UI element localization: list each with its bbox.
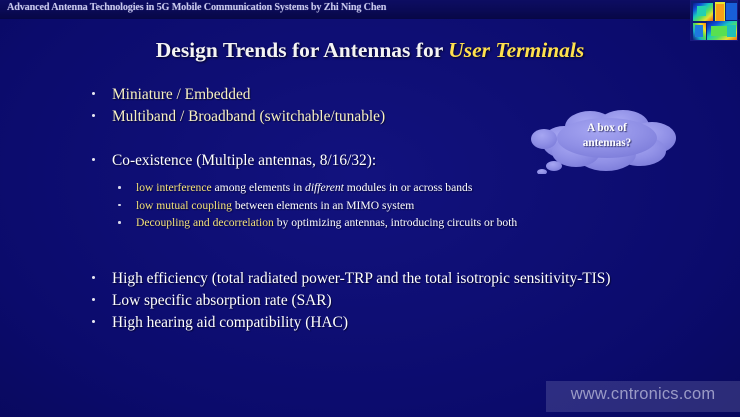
header-title: Advanced Antenna Technologies in 5G Mobi… bbox=[7, 2, 386, 13]
spacer bbox=[88, 254, 708, 268]
list-item-label: Miniature / Embedded bbox=[112, 86, 250, 103]
slide-canvas: Advanced Antenna Technologies in 5G Mobi… bbox=[0, 0, 740, 417]
sub-list-item: Decoupling and decorrelation by optimizi… bbox=[88, 214, 708, 232]
watermark-text: www.cntronics.com bbox=[546, 385, 740, 404]
list-item-label: High hearing aid compatibility (HAC) bbox=[112, 314, 348, 331]
sub-list-item: low mutual coupling between elements in … bbox=[88, 197, 708, 215]
bullet-marker-icon bbox=[92, 298, 95, 301]
page-title: Design Trends for Antennas for User Term… bbox=[0, 38, 740, 63]
list-item-label: High efficiency (total radiated power-TR… bbox=[112, 270, 610, 287]
sub-item-text-cont: modules in or across bands bbox=[344, 181, 472, 194]
sub-item-text: among elements in bbox=[212, 181, 305, 194]
watermark-bar: www.cntronics.com bbox=[546, 381, 740, 412]
sub-bullet-marker-icon bbox=[118, 221, 121, 224]
list-item: High hearing aid compatibility (HAC) bbox=[88, 312, 708, 333]
simulation-heatmap-thumbnail-icon bbox=[690, 0, 738, 41]
bullet-marker-icon bbox=[92, 158, 95, 161]
cloud-callout-icon bbox=[528, 106, 686, 174]
sub-item-text: between elements in an MIMO system bbox=[232, 199, 414, 212]
list-item-label: Low specific absorption rate (SAR) bbox=[112, 292, 332, 309]
bullet-marker-icon bbox=[92, 114, 95, 117]
sub-list-item: low interference among elements in diffe… bbox=[88, 179, 708, 197]
sub-bullet-marker-icon bbox=[118, 186, 121, 189]
page-title-emphasis: User Terminals bbox=[448, 38, 584, 62]
list-item: Low specific absorption rate (SAR) bbox=[88, 290, 708, 311]
cloud-callout: A box of antennas? bbox=[528, 106, 686, 174]
sub-bullet-marker-icon bbox=[118, 204, 121, 207]
bullet-marker-icon bbox=[92, 320, 95, 323]
sub-item-highlight: Decoupling and decorrelation bbox=[136, 216, 274, 229]
bullet-marker-icon bbox=[92, 276, 95, 279]
sub-item-highlight: low mutual coupling bbox=[136, 199, 232, 212]
sub-item-italic: different bbox=[305, 181, 344, 194]
sub-item-highlight: low interference bbox=[136, 181, 212, 194]
list-item-label: Multiband / Broadband (switchable/tunabl… bbox=[112, 108, 385, 125]
sub-item-text: by optimizing antennas, introducing circ… bbox=[274, 216, 517, 229]
spacer bbox=[88, 232, 708, 254]
list-item: Miniature / Embedded bbox=[88, 84, 708, 105]
list-item: High efficiency (total radiated power-TR… bbox=[88, 268, 708, 289]
page-title-main: Design Trends for Antennas for bbox=[156, 38, 449, 62]
list-item-label: Co-existence (Multiple antennas, 8/16/32… bbox=[112, 152, 376, 169]
bullet-marker-icon bbox=[92, 92, 95, 95]
